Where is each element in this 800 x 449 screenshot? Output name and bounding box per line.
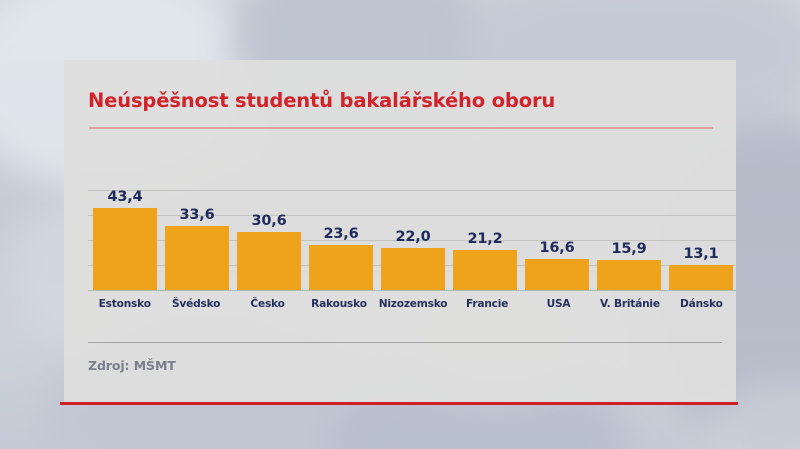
bar (237, 232, 301, 290)
bar (165, 226, 229, 290)
bar-value-label: 15,9 (612, 241, 647, 257)
category-label: V. Británie (598, 298, 661, 310)
bar-column: 30,6 (237, 125, 301, 290)
category-label: USA (527, 298, 590, 310)
screen: Neúspěšnost studentů bakalářského oboru … (0, 0, 800, 449)
chart-card: Neúspěšnost studentů bakalářského oboru … (64, 60, 736, 405)
category-label: Švédsko (164, 298, 227, 310)
bar-column: 21,2 (453, 125, 517, 290)
bar-column: 22,0 (381, 125, 445, 290)
plot-area: 43,433,630,623,622,021,216,615,913,1 (88, 190, 736, 290)
category-label: Rakousko (307, 298, 370, 310)
category-label: Nizozemsko (379, 298, 448, 310)
category-label: Estonsko (93, 298, 156, 310)
axis-baseline (88, 290, 736, 291)
bar-value-label: 21,2 (468, 231, 503, 247)
bar-column: 13,1 (669, 125, 733, 290)
bar-column: 43,4 (93, 125, 157, 290)
bar (309, 245, 373, 290)
bar-column: 16,6 (525, 125, 589, 290)
bar-value-label: 16,6 (540, 240, 575, 256)
source-note: Zdroj: MŠMT (88, 358, 176, 373)
bar (381, 248, 445, 290)
bar-column: 15,9 (597, 125, 661, 290)
bar-value-label: 33,6 (180, 207, 215, 223)
category-axis-labels: EstonskoŠvédskoČeskoRakouskoNizozemskoFr… (93, 298, 733, 310)
category-label: Česko (236, 298, 299, 310)
bar (93, 208, 157, 291)
bar (669, 265, 733, 290)
bar (525, 259, 589, 291)
bar (597, 260, 661, 290)
bar-value-label: 43,4 (108, 189, 143, 205)
category-label: Dánsko (670, 298, 733, 310)
bar-series: 43,433,630,623,622,021,216,615,913,1 (93, 125, 733, 290)
bar-value-label: 30,6 (252, 213, 287, 229)
bar-value-label: 23,6 (324, 226, 359, 242)
bar-value-label: 13,1 (684, 246, 719, 262)
bar-column: 33,6 (165, 125, 229, 290)
bottom-accent-rule (60, 402, 738, 405)
footer-divider (88, 342, 722, 343)
category-label: Francie (455, 298, 518, 310)
bar-column: 23,6 (309, 125, 373, 290)
bar (453, 250, 517, 290)
bar-value-label: 22,0 (396, 229, 431, 245)
chart-title: Neúspěšnost studentů bakalářského oboru (88, 89, 555, 112)
